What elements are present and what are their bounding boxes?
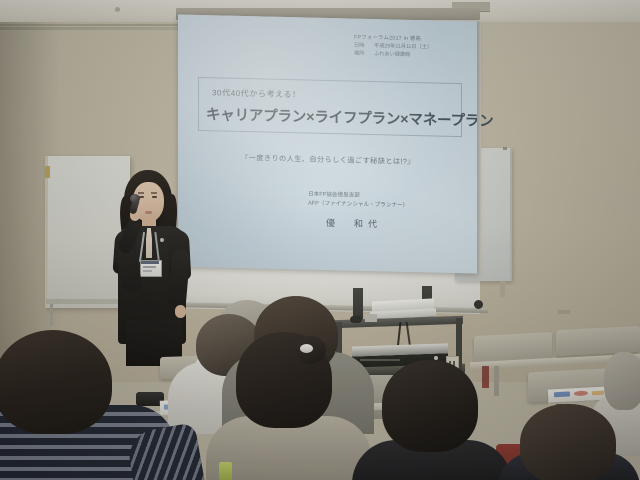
- presenter-badge-text-line: [143, 266, 156, 268]
- desk-side-panel: [482, 366, 489, 388]
- whiteboard-left-tray: [46, 299, 126, 304]
- brochure-graphic-1: [554, 391, 570, 397]
- cart-knob: [350, 316, 362, 323]
- projection-vignette: [178, 14, 478, 273]
- presenter-lapel-pin: [160, 238, 164, 242]
- whiteboard-left-clip: [45, 166, 50, 178]
- presenter-eyebrow-right: [151, 192, 157, 194]
- presenter-badge-header: [141, 261, 159, 264]
- drink-cup: [219, 462, 232, 480]
- projection-screen-edge: [477, 22, 481, 274]
- whiteboard-left-leg: [50, 304, 53, 326]
- desk-leg: [494, 366, 499, 396]
- attendee-head-back-row: [520, 404, 616, 480]
- whiteboard-tray-cap: [474, 300, 483, 309]
- amplifier-faceplate-line: [360, 359, 400, 361]
- hair-tie-icon: [300, 344, 313, 353]
- chair-back: [474, 332, 552, 362]
- projection-screen: FPフォーラム2017 in 徳島 日時 平成29年11月11日（土） 場所 ふ…: [178, 14, 478, 273]
- presenter-badge-text-line-2: [143, 270, 152, 272]
- attendee-head-side: [604, 352, 640, 410]
- presenter-eye-right: [152, 196, 157, 198]
- presenter-hand-right: [175, 305, 186, 318]
- presenter-eyebrow-left: [138, 192, 144, 194]
- brochure-graphic-3: [592, 391, 604, 396]
- wall-mark: [558, 310, 570, 314]
- presenter-mouth: [145, 211, 152, 214]
- wall-panel-foot: [500, 281, 505, 297]
- wall-panel-knob: [503, 147, 507, 150]
- cart-small-box: [365, 314, 377, 322]
- attendee-head-striped-sweater: [0, 330, 112, 434]
- attendee-head-dark-hair: [382, 360, 478, 452]
- photo-scene: FPフォーラム2017 in 徳島 日時 平成29年11月11日（土） 場所 ふ…: [0, 0, 640, 480]
- brochure-graphic-2: [574, 391, 588, 397]
- microphone-head-icon: [130, 194, 140, 203]
- ceiling-fixture-icon: [115, 7, 120, 12]
